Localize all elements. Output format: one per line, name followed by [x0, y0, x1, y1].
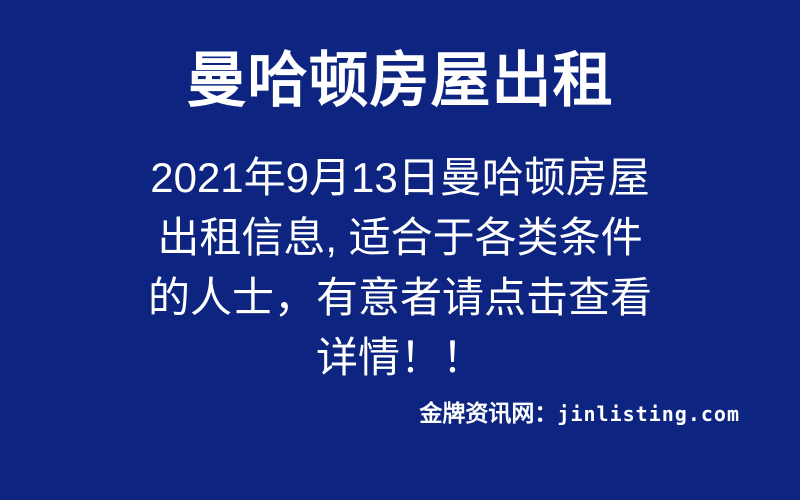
site-url-label: jinlisting.com	[557, 402, 740, 426]
body-line-4: 详情！！	[0, 328, 800, 388]
promo-poster: 曼哈顿房屋出租 2021年9月13日曼哈顿房屋 出租信息, 适合于各类条件 的人…	[0, 0, 800, 500]
footer-watermark: 金牌资讯网：jinlisting.com	[0, 398, 740, 429]
title-block: 曼哈顿房屋出租	[0, 44, 800, 118]
body-line-2: 出租信息, 适合于各类条件	[0, 208, 800, 268]
body-line-1: 2021年9月13日曼哈顿房屋	[0, 148, 800, 208]
page-title: 曼哈顿房屋出租	[0, 44, 800, 118]
body-line-3: 的人士，有意者请点击查看	[0, 268, 800, 328]
body-copy: 2021年9月13日曼哈顿房屋 出租信息, 适合于各类条件 的人士，有意者请点击…	[0, 148, 800, 388]
site-brand-label: 金牌资讯网：	[419, 400, 557, 426]
